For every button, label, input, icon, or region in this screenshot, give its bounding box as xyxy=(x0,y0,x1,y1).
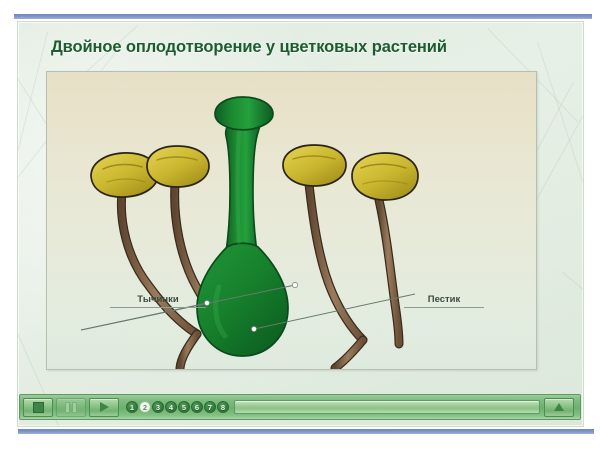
slide-number-list: 1 2 3 4 5 6 7 8 xyxy=(126,401,229,413)
slide-number-3[interactable]: 3 xyxy=(152,401,164,413)
slide-number-4[interactable]: 4 xyxy=(165,401,177,413)
slide-number-6[interactable]: 6 xyxy=(191,401,203,413)
pause-icon xyxy=(65,402,77,413)
stamen-front-right xyxy=(335,340,363,368)
pistil xyxy=(197,97,288,356)
progress-track[interactable] xyxy=(234,400,540,414)
flower-diagram xyxy=(47,72,536,369)
player-toolbar: 1 2 3 4 5 6 7 8 xyxy=(19,394,581,420)
window-chrome-bar-top xyxy=(14,14,592,19)
stamen-right-outer xyxy=(352,153,418,344)
leaf-vein-decoration xyxy=(17,32,48,207)
slide-number-1[interactable]: 1 xyxy=(126,401,138,413)
stamen-right-inner xyxy=(283,145,363,340)
chevron-up-icon xyxy=(554,403,564,411)
callout-label-pistil: Пестик xyxy=(404,294,484,308)
callout-label-stamens: Тычинки xyxy=(110,294,206,308)
leaf-vein-decoration xyxy=(537,42,584,252)
stamen-front-left xyxy=(180,334,197,368)
play-button[interactable] xyxy=(89,398,119,417)
slide-number-2[interactable]: 2 xyxy=(139,401,151,413)
stop-button[interactable] xyxy=(23,398,53,417)
slide-number-8[interactable]: 8 xyxy=(217,401,229,413)
slide-title: Двойное оплодотворение у цветковых расте… xyxy=(51,38,561,57)
play-icon xyxy=(100,402,109,412)
expand-button[interactable] xyxy=(544,398,574,417)
illustration-panel xyxy=(46,71,537,370)
slide-frame: Двойное оплодотворение у цветковых расте… xyxy=(17,21,584,427)
stop-icon xyxy=(33,402,44,413)
leaf-vein-decoration xyxy=(562,272,584,369)
slide-number-5[interactable]: 5 xyxy=(178,401,190,413)
presentation-window: Двойное оплодотворение у цветковых расте… xyxy=(0,0,600,450)
pause-button[interactable] xyxy=(56,398,86,417)
window-chrome-bar-bottom xyxy=(18,429,594,434)
slide-number-7[interactable]: 7 xyxy=(204,401,216,413)
